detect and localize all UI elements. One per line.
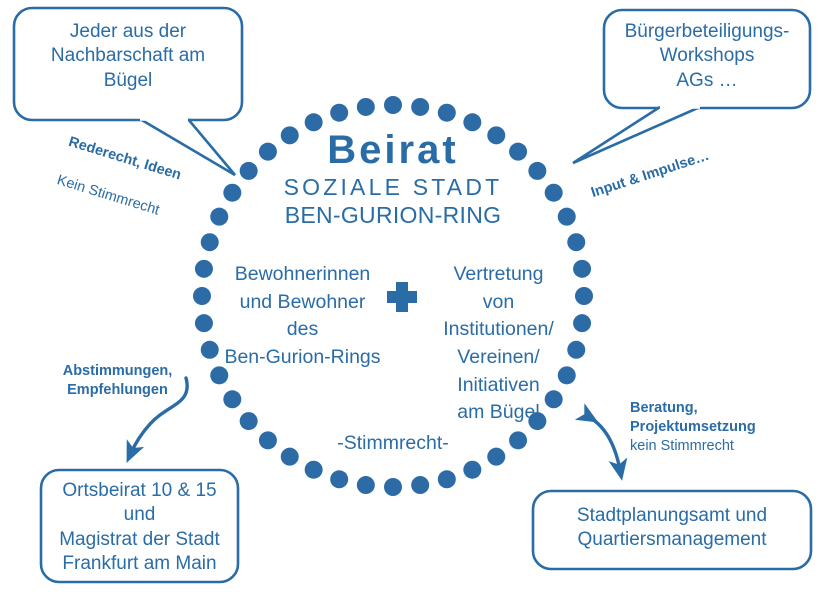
connector-label-top-right-bold: Input & Impulse…: [589, 126, 776, 203]
speech-bubble-top-left-label: Jeder aus der Nachbarschaft am Bügel: [14, 20, 242, 93]
connector-label-bottom-right: Beratung, Projektumsetzung kein Stimmrec…: [630, 399, 820, 456]
member-group-institutions: Vertretung von Institutionen/ Vereinen/ …: [416, 261, 581, 427]
member-group-residents: Bewohnerinnen und Bewohner des Ben-Gurio…: [215, 261, 390, 372]
connector-label-bottom-right-regular: kein Stimmrecht: [630, 437, 820, 456]
connector-label-bottom-left: Abstimmungen, Empfehlungen: [30, 362, 205, 400]
connector-label-bottom-right-bold: Beratung, Projektumsetzung: [630, 399, 820, 437]
diagram-canvas: Jeder aus der Nachbarschaft am Bügel Bür…: [0, 0, 820, 600]
box-bottom-left-label: Ortsbeirat 10 & 15 und Magistrat der Sta…: [41, 479, 238, 576]
connector-label-top-right: Input & Impulse…: [582, 105, 782, 223]
connector-label-top-left: Rederecht, Ideen Kein Stimmrecht: [48, 112, 250, 263]
voting-rights-note: -Stimmrecht-: [293, 431, 493, 456]
page-title: Beirat: [243, 130, 543, 170]
page-subtitle-1: SOZIALE STADT: [243, 176, 543, 199]
speech-bubble-top-right-label: Bürgerbeteiligungs- Workshops AGs …: [604, 20, 810, 93]
box-bottom-right-label: Stadtplanungsamt und Quartiersmanagement: [533, 504, 811, 553]
diagram-text-layer: Jeder aus der Nachbarschaft am Bügel Bür…: [0, 0, 820, 600]
page-subtitle-2: BEN-GURION-RING: [243, 204, 543, 227]
